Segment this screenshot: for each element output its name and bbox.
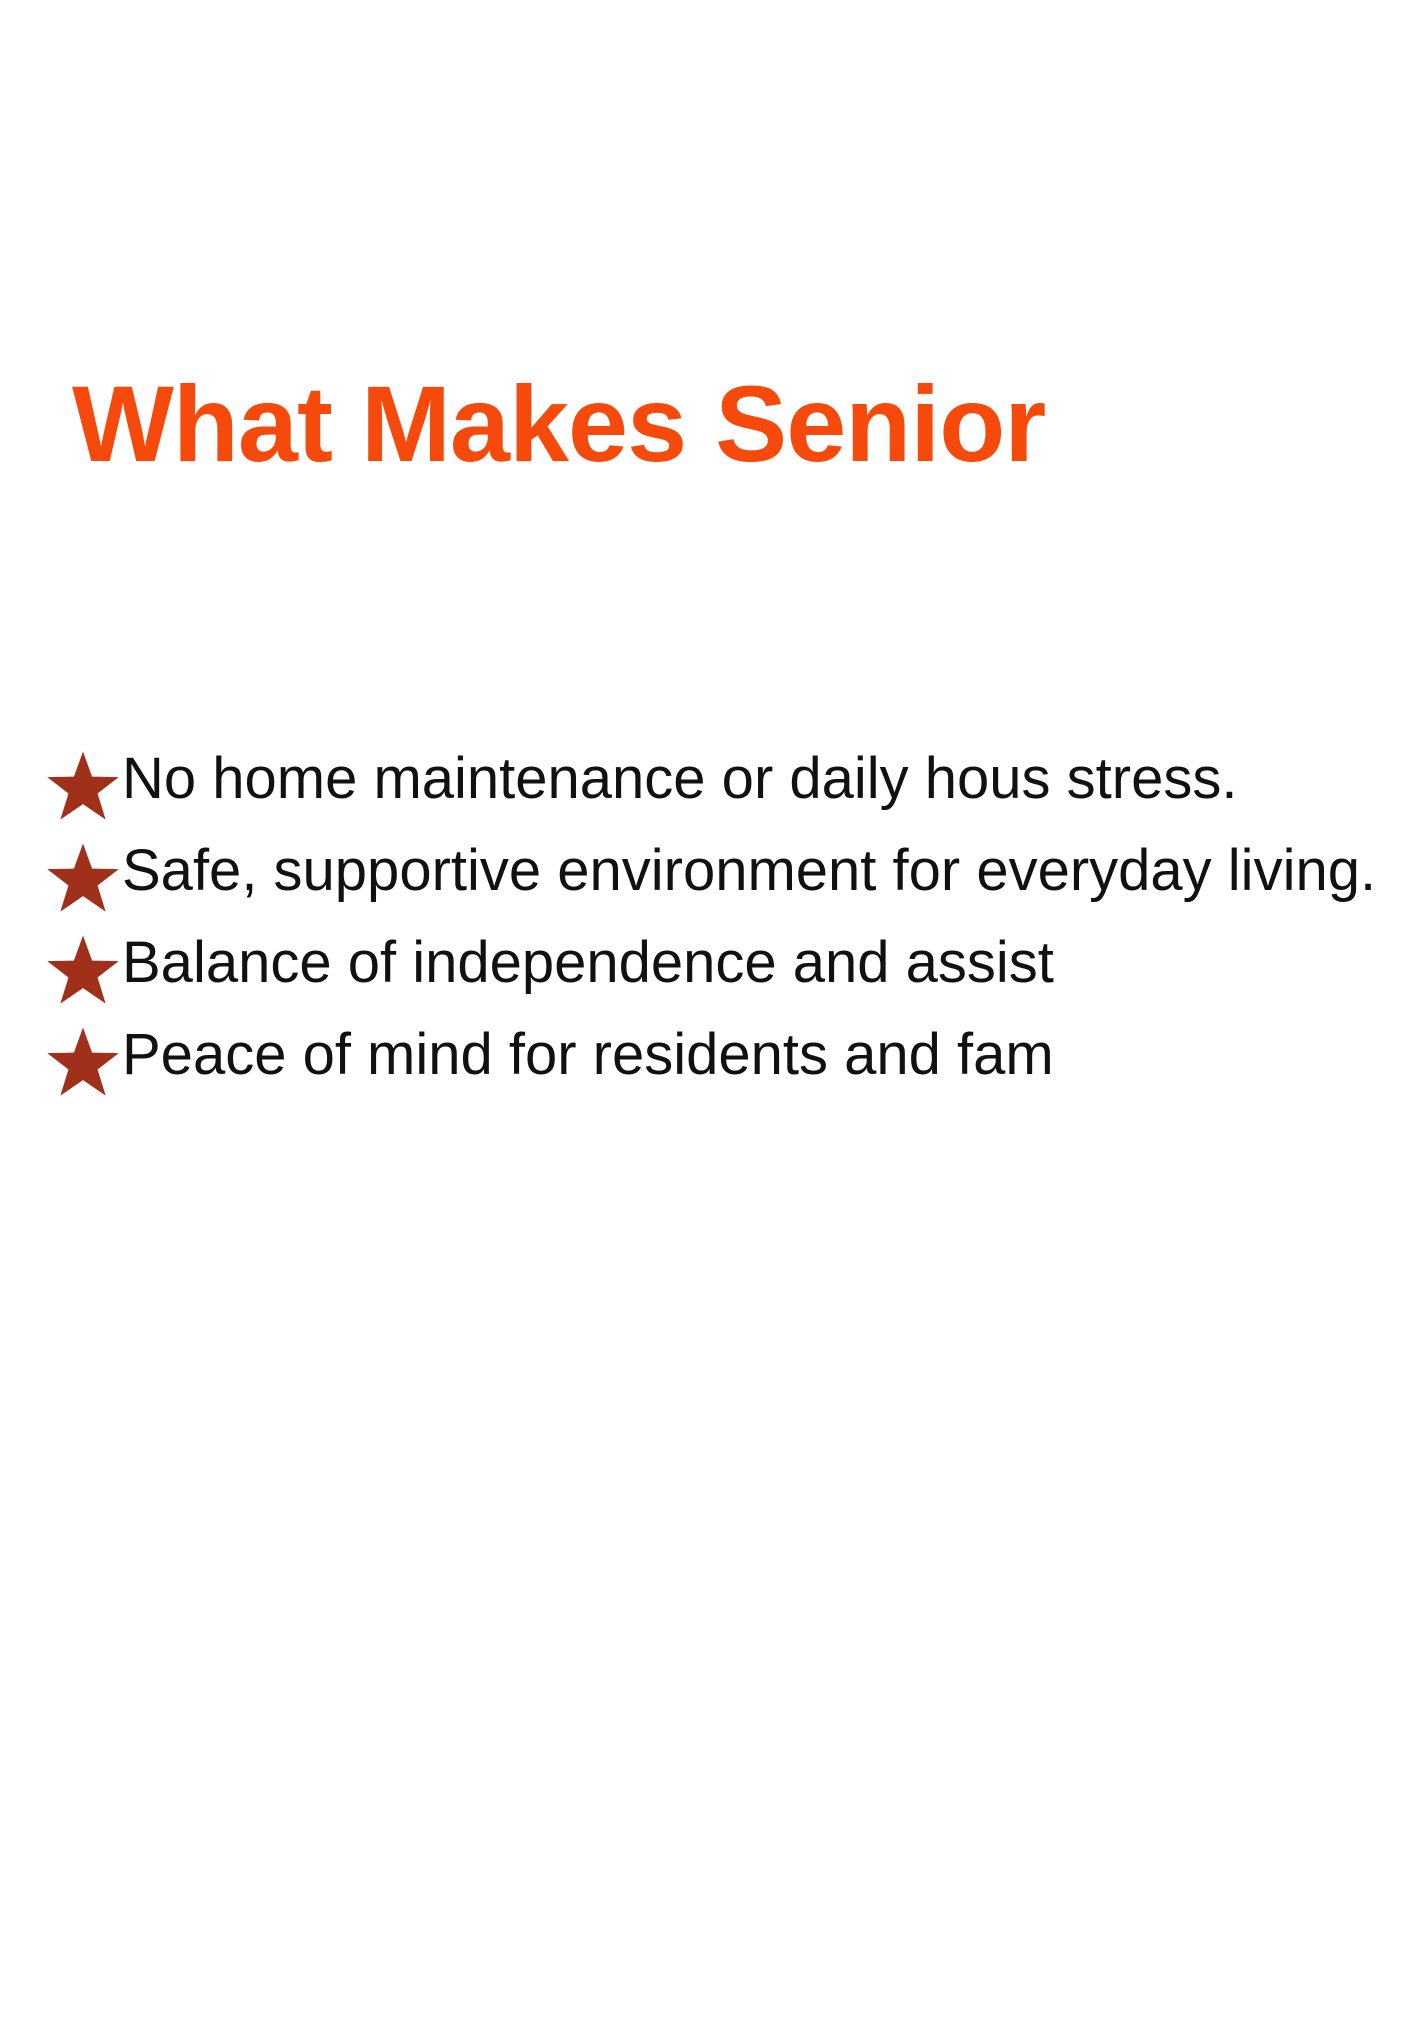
list-item-label: No home maintenance or daily hous stress… [122, 736, 1412, 821]
title-block: What Makes Senior [72, 360, 1428, 510]
list-item: Balance of independence and assist [44, 920, 1428, 1008]
benefits-bullet-list: No home maintenance or daily hous stress… [44, 736, 1428, 1104]
page-title: What Makes Senior [72, 360, 1428, 487]
star-icon [44, 842, 122, 916]
star-icon [44, 1026, 122, 1100]
star-icon [44, 934, 122, 1008]
list-item: Safe, supportive environment for everyda… [44, 828, 1428, 916]
list-item-label: Balance of independence and assist [122, 920, 1428, 1005]
list-item: No home maintenance or daily hous stress… [44, 736, 1428, 824]
star-icon [44, 750, 122, 824]
list-item: Peace of mind for residents and fam [44, 1012, 1428, 1100]
list-item-label: Safe, supportive environment for everyda… [122, 828, 1412, 913]
list-item-label: Peace of mind for residents and fam [122, 1012, 1428, 1097]
slide-canvas: What Makes Senior No home maintenance or… [0, 0, 1428, 2018]
